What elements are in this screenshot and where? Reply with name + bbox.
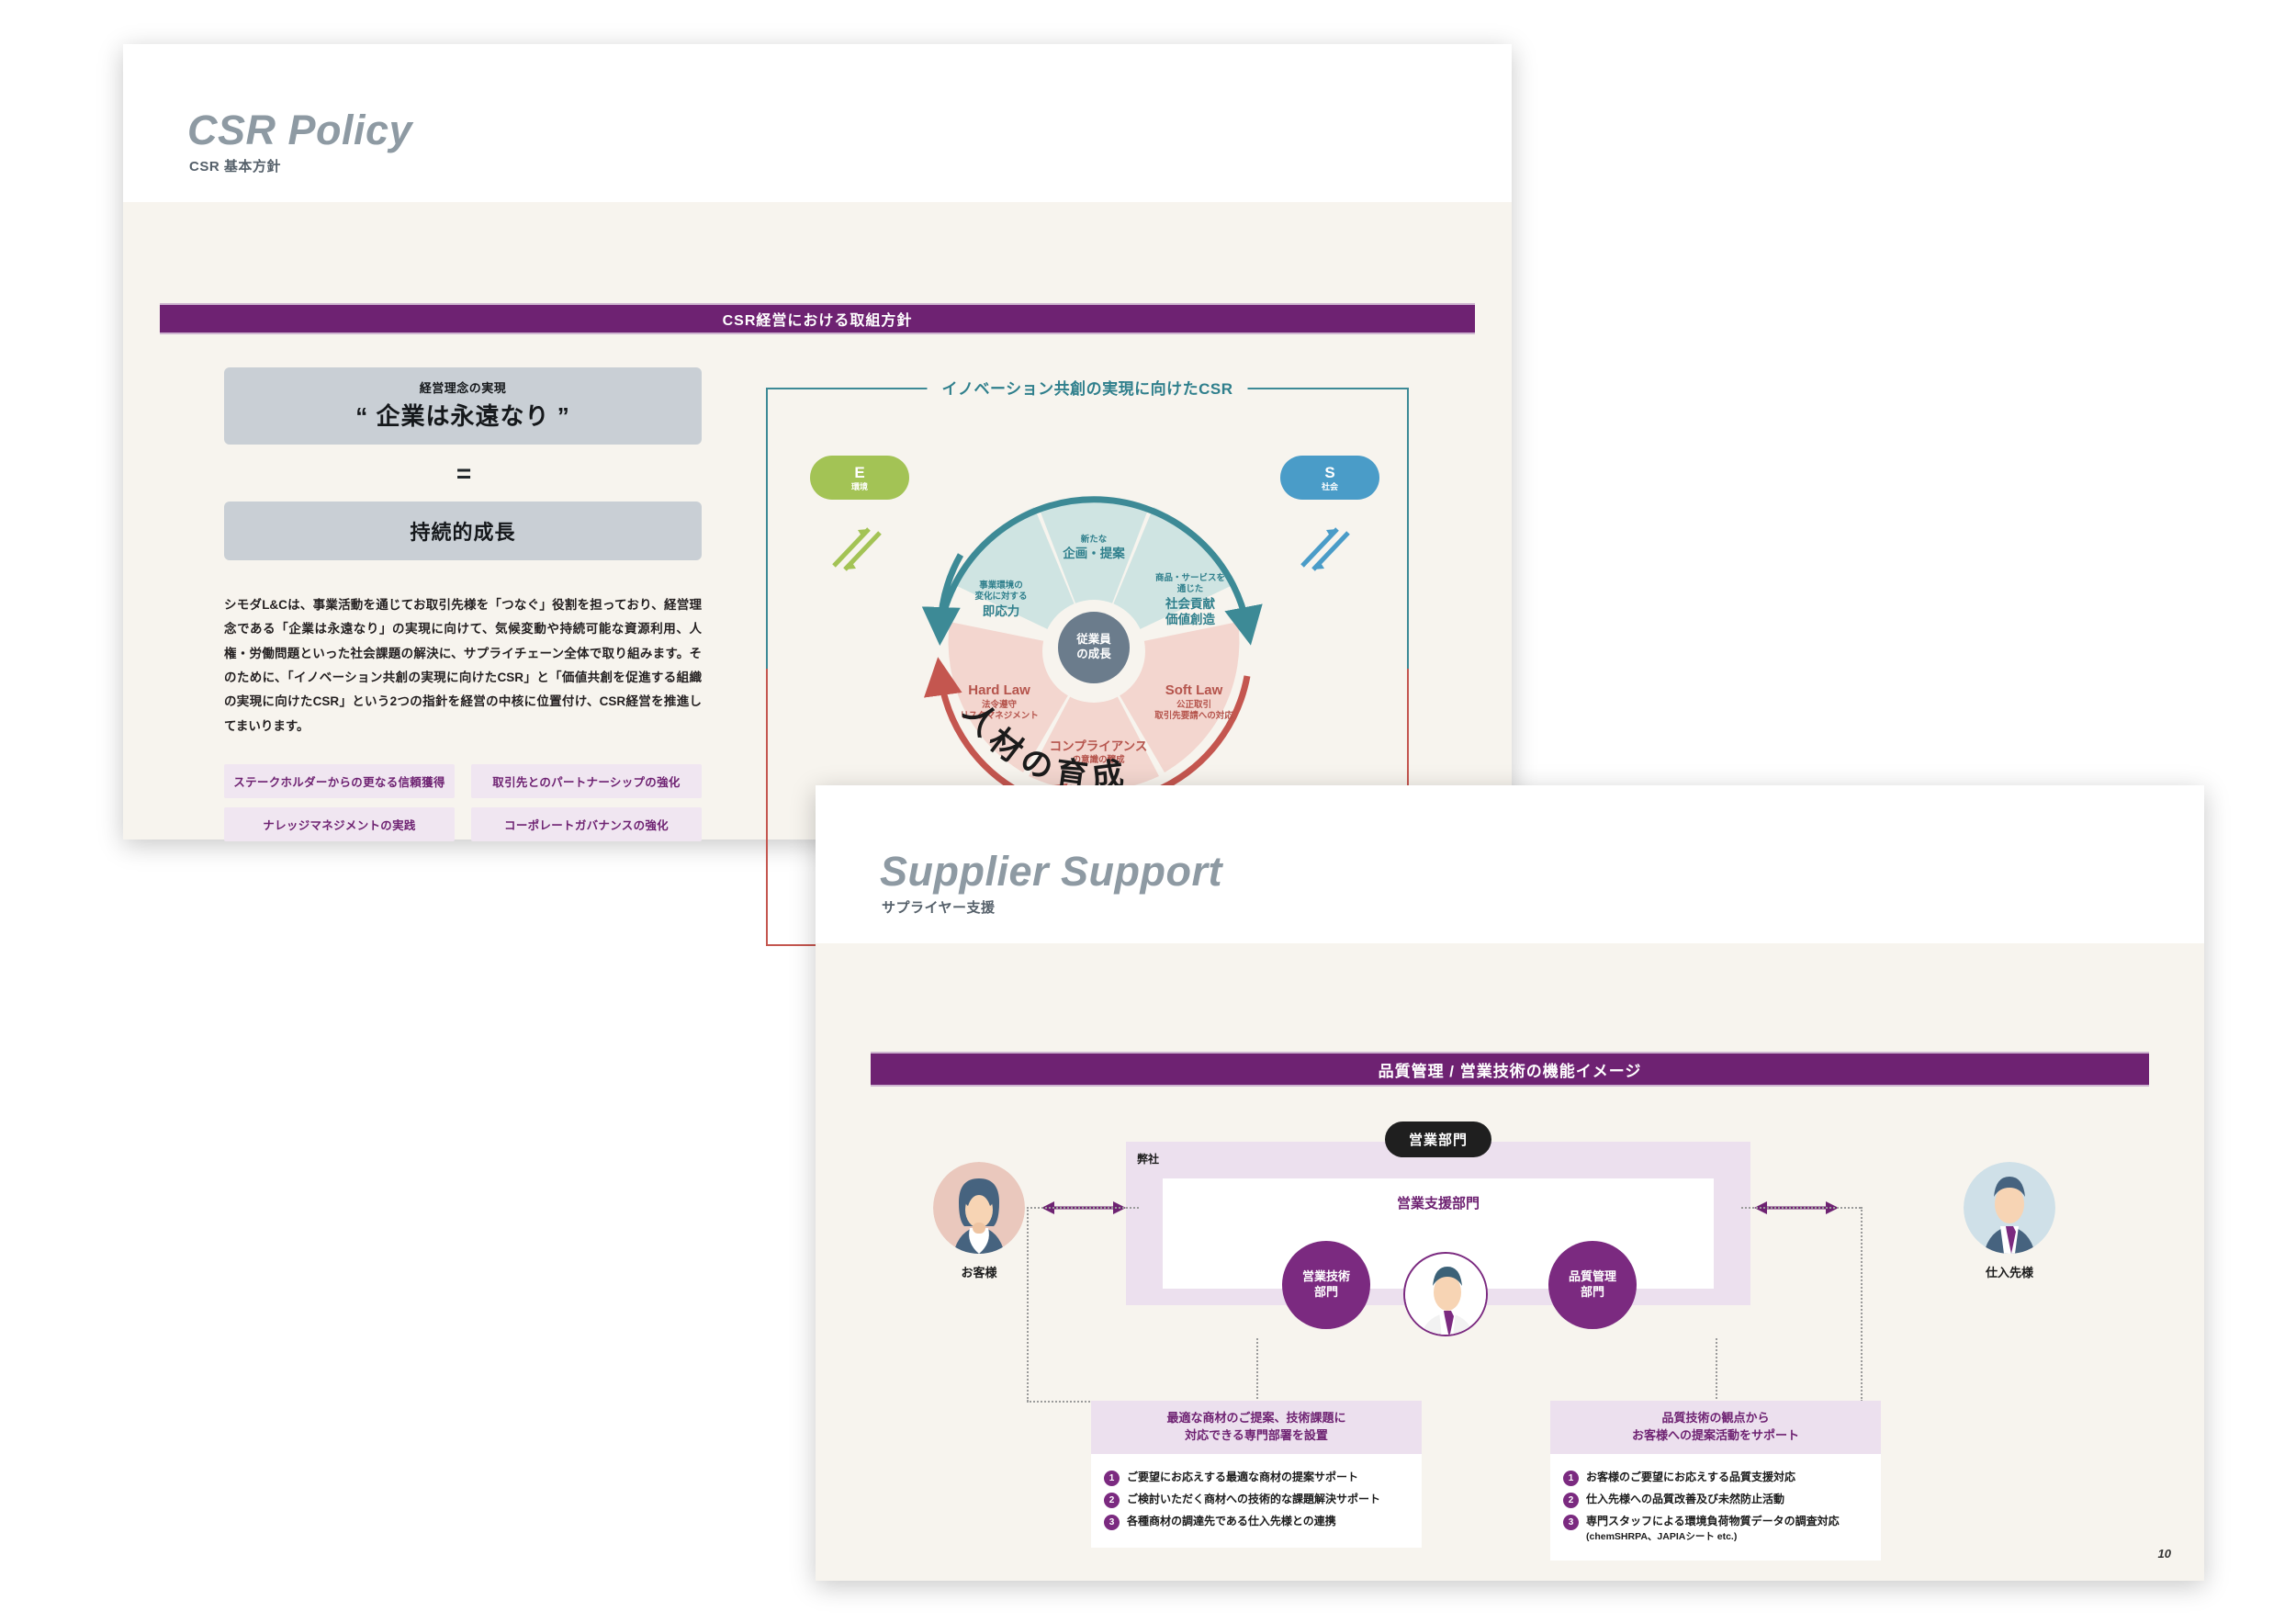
info-card-quality-body: 1 お客様のご要望にお応えする品質支援対応 2 仕入先様への品質改善及び未然防止… bbox=[1550, 1454, 1881, 1561]
csr-tag: 取引先とのパートナーシップの強化 bbox=[471, 764, 702, 798]
svg-text:人材の育成: 人材の育成 bbox=[957, 695, 1133, 795]
dotted-line-right-down bbox=[1861, 1207, 1863, 1402]
pill-social-letter: S bbox=[1324, 464, 1334, 482]
dept-sales-tech: 営業技術 部門 bbox=[1282, 1241, 1370, 1329]
csr-slide-body: CSR経営における取組方針 経営理念の実現 “ 企業は永遠なり ” = 持続的成… bbox=[123, 202, 1512, 840]
info-card-sales-tech: 最適な商材のご提案、技術課題に 対応できる専門部署を設置 1 ご要望にお応えする… bbox=[1091, 1401, 1422, 1548]
info-row-number: 2 bbox=[1563, 1493, 1579, 1508]
csr-tag: ナレッジマネジメントの実践 bbox=[224, 807, 455, 841]
csr-tag: ステークホルダーからの更なる信頼獲得 bbox=[224, 764, 455, 798]
info-row-text: 専門スタッフによる環境負荷物質データの調査対応 bbox=[1586, 1514, 1840, 1529]
pill-environment: E 環境 bbox=[810, 456, 909, 500]
exchange-arrows-environment bbox=[825, 518, 889, 580]
dotted-line-card-right-up bbox=[1716, 1338, 1717, 1403]
info-row-number: 2 bbox=[1104, 1493, 1120, 1508]
exchange-arrows-social bbox=[1291, 518, 1356, 580]
info-row-text: 各種商材の調達先である仕入先様との連携 bbox=[1127, 1514, 1336, 1529]
staff-avatar-icon bbox=[1403, 1252, 1488, 1336]
info-row-text: お客様のご要望にお応えする品質支援対応 bbox=[1586, 1470, 1795, 1485]
customer-avatar-icon bbox=[933, 1162, 1025, 1254]
section-bar-supplier: 品質管理 / 営業技術の機能イメージ bbox=[871, 1052, 2149, 1087]
slide-supplier-support: Supplier Support サプライヤー支援 品質管理 / 営業技術の機能… bbox=[816, 785, 2204, 1581]
info-row-number: 1 bbox=[1104, 1471, 1120, 1486]
csr-left-column: 経営理念の実現 “ 企業は永遠なり ” = 持続的成長 シモダL&Cは、事業活動… bbox=[224, 367, 702, 841]
growth-label: 持続的成長 bbox=[233, 516, 692, 546]
pill-social: S 社会 bbox=[1280, 456, 1379, 500]
philosophy-small: 経営理念の実現 bbox=[233, 378, 692, 396]
info-row-text: ご要望にお応えする最適な商材の提案サポート bbox=[1127, 1470, 1358, 1485]
growth-box: 持続的成長 bbox=[224, 502, 702, 560]
pill-environment-sub: 環境 bbox=[851, 482, 868, 491]
supplier-slide-header: Supplier Support サプライヤー支援 bbox=[816, 785, 2204, 943]
company-tag: 弊社 bbox=[1137, 1151, 1159, 1167]
section-bar-csr: CSR経営における取組方針 bbox=[160, 303, 1475, 334]
philosophy-box: 経営理念の実現 “ 企業は永遠なり ” bbox=[224, 367, 702, 445]
info-row: 2 仕入先様への品質改善及び未然防止活動 bbox=[1563, 1492, 1868, 1508]
dotted-line-left bbox=[1027, 1207, 1139, 1209]
info-row-number: 3 bbox=[1104, 1515, 1120, 1530]
sales-division-pill: 営業部門 bbox=[1385, 1121, 1491, 1157]
page-title-en: Supplier Support bbox=[880, 848, 1222, 896]
supplier-label: 仕入先様 bbox=[1954, 1263, 2065, 1280]
frame-innovation-label: イノベーション共創の実現に向けたCSR bbox=[927, 376, 1247, 399]
info-row-text: ご検討いただく商材への技術的な課題解決サポート bbox=[1127, 1492, 1380, 1507]
info-row-number: 1 bbox=[1563, 1471, 1579, 1486]
csr-tag-grid: ステークホルダーからの更なる信頼獲得 取引先とのパートナーシップの強化 ナレッジ… bbox=[224, 764, 702, 841]
info-row: 3 各種商材の調達先である仕入先様との連携 bbox=[1104, 1514, 1409, 1530]
page-title-ja: CSR 基本方針 bbox=[189, 156, 281, 175]
info-card-sales-tech-body: 1 ご要望にお応えする最適な商材の提案サポート 2 ご検討いただく商材への技術的… bbox=[1091, 1454, 1422, 1548]
csr-tag: コーポレートガバナンスの強化 bbox=[471, 807, 702, 841]
customer-block: お客様 bbox=[924, 1162, 1034, 1280]
page-title-ja: サプライヤー支援 bbox=[882, 897, 996, 917]
info-row-number: 3 bbox=[1563, 1515, 1579, 1530]
page-number: 10 bbox=[2158, 1547, 2171, 1561]
sales-support-title: 営業支援部門 bbox=[1163, 1193, 1714, 1212]
wheel-hub-arc-text: 人材の育成 bbox=[957, 695, 1133, 795]
info-card-sales-tech-head: 最適な商材のご提案、技術課題に 対応できる専門部署を設置 bbox=[1091, 1401, 1422, 1454]
dotted-line-card-left-up bbox=[1256, 1338, 1258, 1403]
info-row: 3 専門スタッフによる環境負荷物質データの調査対応 (chemSHRPA、JAP… bbox=[1563, 1514, 1868, 1543]
pill-environment-letter: E bbox=[854, 464, 864, 482]
supplier-diagram: お客様 仕入先様 bbox=[871, 1109, 2149, 1544]
info-card-quality: 品質技術の観点から お客様への提案活動をサポート 1 お客様のご要望にお応えする… bbox=[1550, 1401, 1881, 1561]
page-title-en: CSR Policy bbox=[187, 107, 412, 154]
info-row: 1 ご要望にお応えする最適な商材の提案サポート bbox=[1104, 1470, 1409, 1486]
info-row: 1 お客様のご要望にお応えする品質支援対応 bbox=[1563, 1470, 1868, 1486]
supplier-slide-body: 品質管理 / 営業技術の機能イメージ お客様 bbox=[816, 943, 2204, 1581]
philosophy-big: “ 企業は永遠なり ” bbox=[233, 398, 692, 432]
dotted-line-right bbox=[1741, 1207, 1861, 1209]
csr-wheel: 新たな 企画・提案 事業環境の 変化に対する 即応力 商品・サービスを 通じた … bbox=[906, 463, 1282, 840]
csr-slide-header: CSR Policy CSR 基本方針 bbox=[123, 44, 1512, 202]
info-row-text: 仕入先様への品質改善及び未然防止活動 bbox=[1586, 1492, 1784, 1507]
info-row-subtext: (chemSHRPA、JAPIAシート etc.) bbox=[1586, 1529, 1840, 1543]
equals-sign: = bbox=[224, 459, 702, 489]
customer-label: お客様 bbox=[924, 1263, 1034, 1280]
supplier-block: 仕入先様 bbox=[1954, 1162, 2065, 1280]
dotted-line-left-down bbox=[1027, 1207, 1029, 1402]
dept-quality-mgmt: 品質管理 部門 bbox=[1548, 1241, 1637, 1329]
wheel-hub-arc: 人材の育成 bbox=[906, 463, 1282, 840]
info-card-quality-head: 品質技術の観点から お客様への提案活動をサポート bbox=[1550, 1401, 1881, 1454]
csr-paragraph: シモダL&Cは、事業活動を通じてお取引先様を「つなぐ」役割を担っており、経営理念… bbox=[224, 593, 702, 738]
pill-social-sub: 社会 bbox=[1322, 482, 1338, 491]
supplier-avatar-icon bbox=[1964, 1162, 2055, 1254]
slide-csr-policy: CSR Policy CSR 基本方針 CSR経営における取組方針 経営理念の実… bbox=[123, 44, 1512, 840]
info-row: 2 ご検討いただく商材への技術的な課題解決サポート bbox=[1104, 1492, 1409, 1508]
